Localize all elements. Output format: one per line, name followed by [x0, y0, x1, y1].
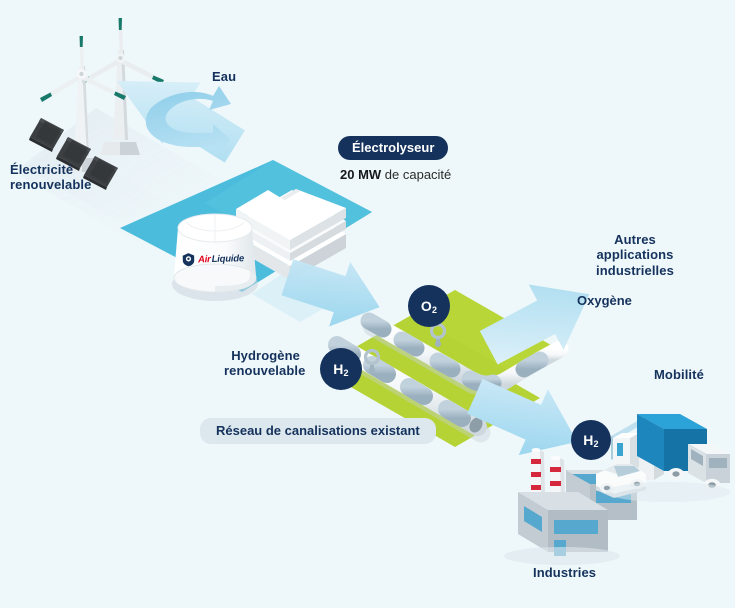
label-oxygen: Oxygène: [577, 293, 632, 308]
badge-h2-mobility: H2: [571, 420, 611, 460]
label-industries: Industries: [533, 565, 596, 580]
air-liquide-logo: Air Liquide: [182, 251, 244, 267]
infographic-canvas: Électricité renouvelable Eau Électrolyse…: [0, 0, 735, 608]
badge-h2-mobility-text: H2: [583, 432, 599, 448]
capacity-rest: de capacité: [381, 167, 451, 182]
label-other-industrial-applications: Autres applications industrielles: [587, 232, 683, 278]
badge-existing-pipeline-network: Réseau de canalisations existant: [200, 418, 436, 444]
badge-o2-text: O2: [421, 298, 437, 314]
badge-o2: O2: [408, 285, 450, 327]
label-water: Eau: [212, 69, 236, 84]
label-renewable-electricity: Électricité renouvelable: [10, 162, 91, 193]
label-renewable-hydrogen: Hydrogène renouvelable: [224, 348, 300, 379]
logo-text-liquide: Liquide: [211, 253, 244, 265]
badge-h2-pipeline-text: H2: [333, 361, 349, 377]
electrolyser-capacity: 20 MW de capacité: [340, 167, 451, 182]
capacity-value: 20 MW: [340, 167, 381, 182]
label-mobility: Mobilité: [654, 367, 704, 382]
air-liquide-shield-icon: [182, 252, 195, 266]
badge-h2-pipeline: H2: [320, 348, 362, 390]
badge-electrolyser: Électrolyseur: [338, 136, 448, 160]
logo-text-air: Air: [198, 254, 211, 265]
